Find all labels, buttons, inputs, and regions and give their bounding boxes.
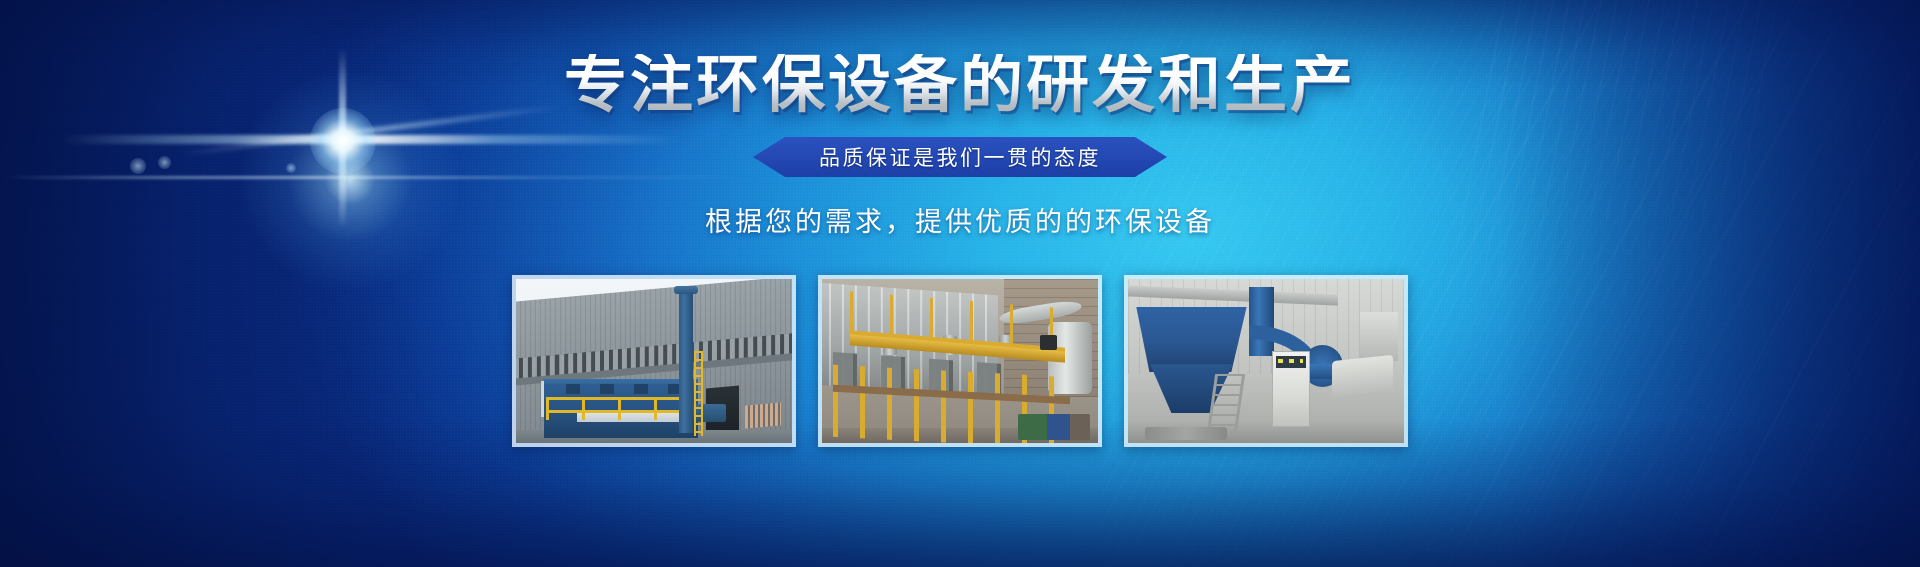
subtitle-text: 根据您的需求，提供优质的的环保设备 [705, 200, 1215, 239]
page-title: 专注环保设备的研发和生产 [564, 54, 1356, 117]
hero-banner: 专注环保设备的研发和生产 品质保证是我们一贯的态度 根据您的需求，提供优质的的环… [0, 0, 1920, 567]
ribbon-shape: 品质保证是我们一贯的态度 [753, 137, 1167, 177]
ribbon-label: 品质保证是我们一贯的态度 [819, 142, 1101, 172]
indicator-lights [1278, 359, 1303, 364]
yellow-railing [546, 397, 690, 413]
pulse-bag-dust-collector-indoor-image [822, 279, 1098, 443]
ribbon-banner: 品质保证是我们一贯的态度 [753, 137, 1167, 177]
catalytic-combustion-unit-outdoor-image [516, 279, 792, 443]
warehouse-window [745, 402, 781, 428]
floor-material [1145, 427, 1228, 440]
metal-tank [1332, 355, 1393, 397]
product-photo-2[interactable] [818, 275, 1102, 447]
exhaust-stack [679, 289, 693, 433]
cyclone-dust-collector-with-control-cabinet-image [1128, 279, 1404, 443]
blue-hopper-upper [1136, 307, 1246, 373]
banner-content: 专注环保设备的研发和生产 品质保证是我们一贯的态度 根据您的需求，提供优质的的环… [0, 0, 1920, 567]
product-photo-1[interactable] [512, 275, 796, 447]
storage-bins [1018, 414, 1090, 440]
product-photo-row [512, 275, 1408, 447]
stack-ladder [694, 351, 703, 436]
stack-cap [674, 286, 697, 294]
right-wall-panel [1360, 312, 1399, 361]
product-photo-3[interactable] [1124, 275, 1408, 447]
work-lamp [1040, 335, 1057, 350]
fan-row [566, 384, 693, 394]
